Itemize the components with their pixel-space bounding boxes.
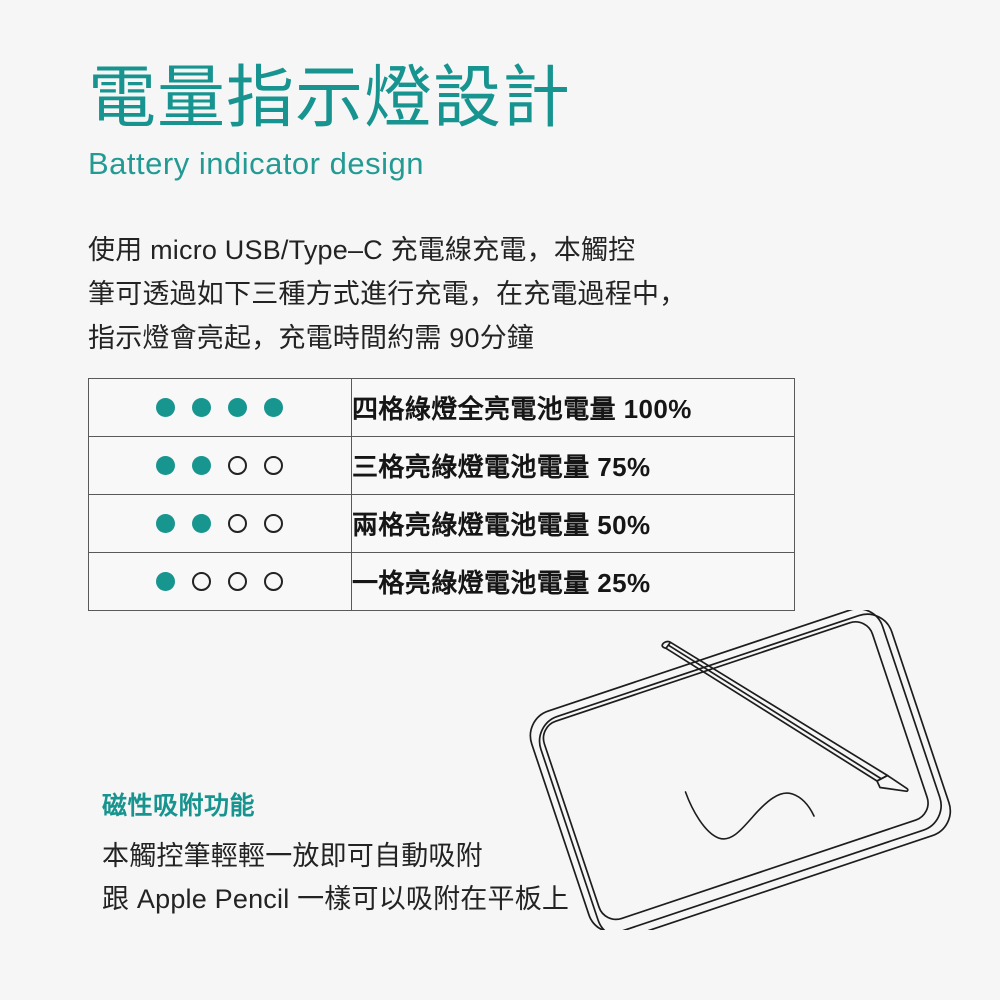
led-cell [89,379,352,437]
led-dot-empty [264,456,283,475]
led-dot-group [89,456,351,475]
table-row: 兩格亮綠燈電池電量 50% [89,495,795,553]
led-cell [89,495,352,553]
led-dot-group [89,514,351,533]
led-cell [89,437,352,495]
led-dot-filled [156,514,175,533]
stylus-outline [666,642,888,781]
led-dot-filled [192,514,211,533]
led-dot-filled [228,398,247,417]
led-cell [89,553,352,611]
magnet-line-1: 本觸控筆輕輕一放即可自動吸附 [102,835,802,878]
magnet-line-2: 跟 Apple Pencil 一樣可以吸附在平板上 [102,878,802,921]
led-dot-filled [156,572,175,591]
led-dot-empty [192,572,211,591]
table-row: 三格亮綠燈電池電量 75% [89,437,795,495]
magnet-feature-block: 磁性吸附功能 本觸控筆輕輕一放即可自動吸附 跟 Apple Pencil 一樣可… [102,786,802,920]
stylus-tip [877,776,908,792]
led-dot-group [89,572,351,591]
led-dot-filled [264,398,283,417]
stylus-edge-line [668,645,881,778]
led-dot-filled [192,456,211,475]
stylus [662,642,908,792]
battery-indicator-table: 四格綠燈全亮電池電量 100% 三格亮綠燈電池電量 75% [88,378,795,611]
intro-line-3: 指示燈會亮起，充電時間約需 90分鐘 [88,316,808,360]
table-row: 一格亮綠燈電池電量 25% [89,553,795,611]
page-subtitle: Battery indicator design [88,146,888,182]
intro-line-1: 使用 micro USB/Type–C 充電線充電，本觸控 [88,228,808,272]
battery-level-label: 一格亮綠燈電池電量 25% [352,553,795,611]
magnet-heading: 磁性吸附功能 [102,786,802,822]
led-dot-filled [156,398,175,417]
battery-level-label: 三格亮綠燈電池電量 75% [352,437,795,495]
led-dot-filled [156,456,175,475]
intro-paragraph: 使用 micro USB/Type–C 充電線充電，本觸控 筆可透過如下三種方式… [88,228,808,360]
battery-level-label: 兩格亮綠燈電池電量 50% [352,495,795,553]
led-dot-empty [264,514,283,533]
led-dot-empty [228,572,247,591]
led-dot-empty [264,572,283,591]
battery-level-label: 四格綠燈全亮電池電量 100% [352,379,795,437]
led-dot-empty [228,514,247,533]
title-block: 電量指示燈設計 Battery indicator design [88,62,888,182]
led-dot-group [89,398,351,417]
table-row: 四格綠燈全亮電池電量 100% [89,379,795,437]
page-title: 電量指示燈設計 [88,62,888,134]
led-dot-filled [192,398,211,417]
product-info-page: 電量指示燈設計 Battery indicator design 使用 micr… [0,0,1000,1000]
led-dot-empty [228,456,247,475]
intro-line-2: 筆可透過如下三種方式進行充電，在充電過程中， [88,272,808,316]
